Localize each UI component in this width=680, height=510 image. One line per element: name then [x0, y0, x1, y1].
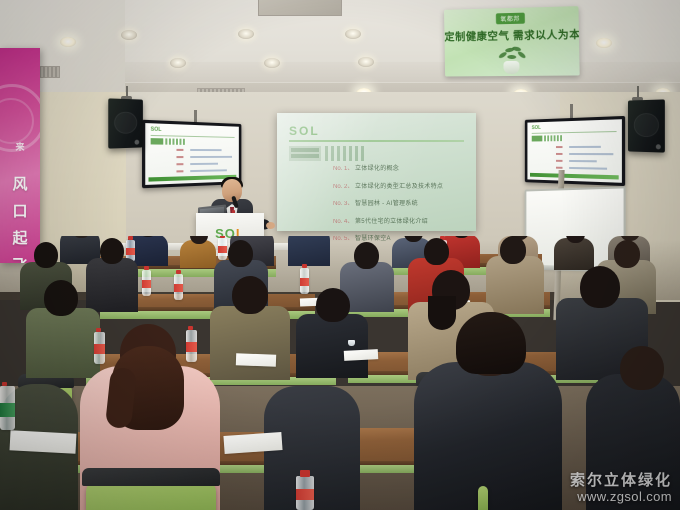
presenter-hand	[266, 222, 275, 229]
attendee-head	[620, 346, 664, 390]
ceiling-downlight-icon	[264, 58, 280, 68]
attendee-body	[210, 306, 290, 380]
slide-agenda-item: No. 4、 第5代住宅的立体绿化介绍	[333, 216, 473, 225]
slide-agenda-item: No. 1、 立体绿化的概念	[333, 163, 473, 172]
slide-divider	[289, 140, 464, 142]
ceiling-downlight-icon	[121, 30, 137, 40]
water-bottle	[94, 332, 105, 364]
pink-banner-char: 口	[0, 200, 40, 221]
attendee-body-dark-jacket	[414, 362, 562, 510]
pink-vertical-banner: 来 风 口 起 飞	[0, 48, 40, 263]
water-bottle	[0, 386, 15, 430]
slide-chip-block	[289, 146, 321, 161]
agenda-number: No. 1、	[333, 163, 355, 172]
screenshot-root: 氧都邦 定制健康空气 需求以人为本 来 风 口 起 飞 SOL	[0, 0, 680, 510]
paper-cup	[348, 340, 355, 346]
water-bottle	[218, 238, 227, 260]
attendee-body	[296, 314, 368, 378]
attendee-body	[86, 258, 138, 312]
tv-screen-right: SOL	[527, 119, 622, 183]
tv-brand-logo: SOL	[532, 125, 541, 131]
agenda-text: 第5代住宅的立体绿化介绍	[355, 216, 428, 225]
slide-agenda-item: No. 2、 立体绿化的类型汇总及技术特点	[333, 181, 473, 190]
tv-footer-bar	[530, 173, 619, 180]
attendee-head	[424, 238, 449, 265]
slide-brand-logo: SOL	[289, 124, 320, 138]
ceiling-downlight-icon	[345, 29, 361, 39]
slide-agenda-item: No. 3、 智慧园林 - AI管理系统	[333, 198, 473, 207]
attendee-body	[180, 240, 216, 268]
agenda-text: 立体绿化的类型汇总及技术特点	[355, 181, 443, 190]
attendee-head	[34, 242, 58, 268]
attendee-body	[486, 256, 544, 314]
tv-screen-left: SOL	[145, 123, 239, 185]
tv-divider	[532, 131, 617, 134]
agenda-text: 智慧园林 - AI管理系统	[355, 198, 418, 207]
attendee-head	[614, 240, 640, 268]
attendee-head	[228, 240, 253, 267]
attendee-head	[354, 242, 379, 269]
tv-bar-block	[165, 138, 185, 144]
ceiling-downlight-icon	[238, 29, 254, 39]
attendee-body	[288, 236, 330, 266]
speaker-left	[108, 98, 143, 148]
attendee-head	[500, 236, 526, 264]
plant-pot-icon	[503, 61, 519, 74]
attendee-ponytail	[428, 296, 456, 330]
chair-green	[478, 486, 488, 510]
speaker-badge-icon	[135, 140, 140, 145]
attendee-head	[580, 266, 620, 308]
speaker-cone-icon	[114, 111, 137, 134]
speaker-cone-icon	[634, 113, 659, 137]
audience-area	[0, 236, 680, 510]
pink-banner-partial-char: 来	[2, 140, 38, 153]
attendee-body	[586, 374, 680, 510]
water-bottle	[296, 476, 314, 510]
water-bottle	[300, 268, 309, 294]
attendee-head	[232, 276, 268, 314]
tv-bar-block	[544, 135, 562, 141]
attendee-head	[44, 280, 78, 316]
ceiling-downlight-icon	[170, 58, 186, 68]
water-bottle	[174, 274, 183, 300]
attendee-head	[100, 238, 124, 264]
ceiling-downlight-icon	[358, 57, 374, 67]
chair-backrest	[82, 468, 220, 486]
handout-paper	[344, 349, 378, 361]
ceiling-downlight-icon	[60, 37, 76, 47]
hanging-banner: 氧都邦 定制健康空气 需求以人为本	[444, 6, 580, 76]
slide-bar-block	[325, 146, 365, 161]
tv-chip-block	[532, 136, 543, 142]
tv-chip-block	[151, 138, 164, 145]
water-bottle	[142, 270, 151, 296]
pink-banner-char: 风	[0, 173, 40, 194]
handout-paper	[236, 353, 276, 366]
attendee-hair	[456, 312, 526, 374]
agenda-number: No. 2、	[333, 181, 355, 190]
banner-headline: 定制健康空气 需求以人为本	[444, 27, 579, 45]
banner-tag: 氧都邦	[495, 13, 525, 25]
attendee-head	[316, 288, 350, 322]
agenda-number: No. 4、	[333, 216, 355, 225]
tv-brand-logo: SOL	[151, 126, 162, 133]
speaker-right	[628, 99, 665, 152]
attendee-body	[26, 308, 100, 378]
agenda-number: No. 3、	[333, 198, 355, 207]
agenda-text: 立体绿化的概念	[355, 163, 399, 172]
speaker-badge-icon	[656, 144, 661, 149]
ceiling-downlight-icon	[596, 38, 612, 48]
potted-plant-icon	[494, 45, 528, 73]
handout-paper	[10, 430, 77, 453]
water-bottle	[186, 330, 197, 362]
tv-monitor-right: SOL	[525, 116, 625, 186]
projection-screen: SOL No. 1、 立体绿化的概念 No. 2、 立体绿化的类型汇总及技术特点…	[277, 113, 476, 231]
ac-vent-icon	[258, 0, 342, 16]
